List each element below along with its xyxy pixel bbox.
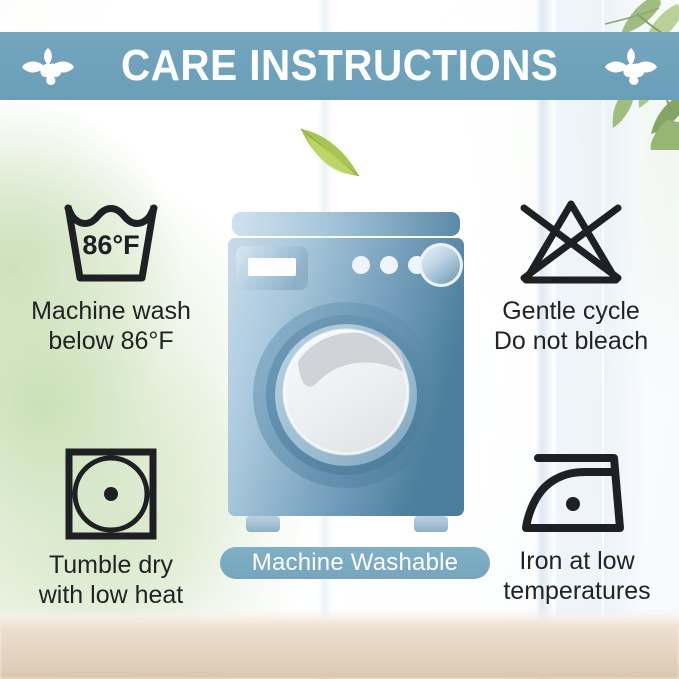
care-label-machine-wash: Machine wash below 86°F <box>31 297 191 356</box>
care-item-do-not-bleach: Gentle cycle Do not bleach <box>466 196 676 356</box>
machine-washable-badge: Machine Washable <box>220 547 490 579</box>
page-title: CARE INSTRUCTIONS <box>121 44 558 88</box>
iron-one-dot-icon <box>514 446 640 538</box>
machine-door <box>253 302 439 488</box>
care-label-iron-low: Iron at low temperatures <box>503 547 650 606</box>
care-item-iron-low: Iron at low temperatures <box>472 446 679 606</box>
floating-leaf <box>297 124 363 182</box>
care-instructions-graphic: CARE INSTRUCTIONS 86°F Machine wash belo… <box>0 0 679 679</box>
fleur-de-lis-icon <box>20 43 76 89</box>
care-item-tumble-dry: Tumble dry with low heat <box>6 446 216 610</box>
care-label-tumble-dry: Tumble dry with low heat <box>39 551 184 610</box>
rotary-dial-knob <box>419 243 463 287</box>
detergent-drawer <box>236 246 308 290</box>
wooden-table-surface <box>0 620 679 679</box>
header-banner: CARE INSTRUCTIONS <box>0 32 679 100</box>
washing-machine-illustration <box>228 212 464 542</box>
machine-lid <box>232 212 460 236</box>
triangle-crossed-icon <box>508 196 634 288</box>
care-item-machine-wash: 86°F Machine wash below 86°F <box>6 196 216 356</box>
wash-tub-icon: 86°F <box>48 196 174 288</box>
machine-foot-left <box>246 516 280 532</box>
control-indicator-dots <box>352 256 426 274</box>
fleur-de-lis-icon <box>603 43 659 89</box>
badge-label: Machine Washable <box>252 551 458 575</box>
care-label-do-not-bleach: Gentle cycle Do not bleach <box>494 297 648 356</box>
machine-foot-right <box>414 516 448 532</box>
tumble-dry-low-icon <box>59 446 163 542</box>
wash-temperature-value: 86°F <box>82 230 139 260</box>
